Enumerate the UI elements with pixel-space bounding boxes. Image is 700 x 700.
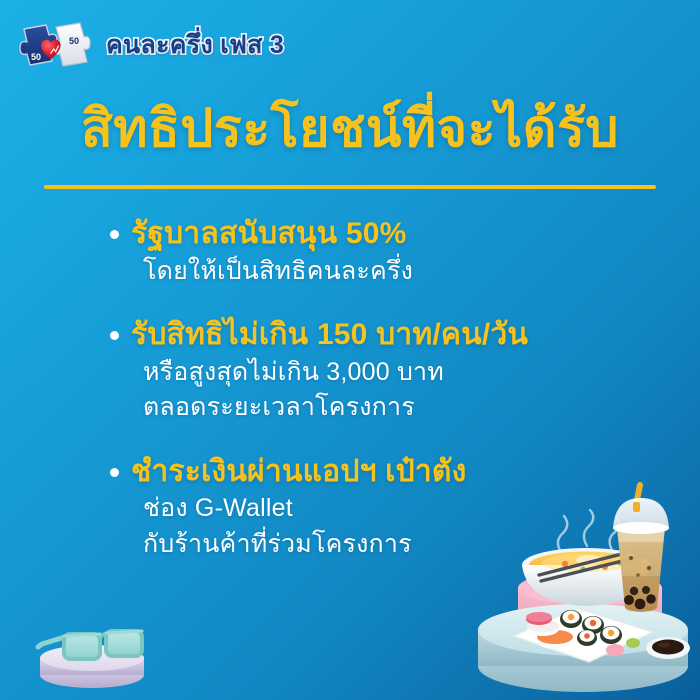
benefit-subline: โดยให้เป็นสิทธิคนละครึ่ง (143, 254, 650, 290)
benefit-sublines: โดยให้เป็นสิทธิคนละครึ่ง (131, 254, 650, 290)
poster-header: 50 50 คนละครึ่ง เฟส 3 (16, 16, 284, 74)
list-item: รับสิทธิไม่เกิน 150 บาท/คน/วัน หรือสูงสุ… (110, 315, 650, 426)
infographic-poster: 50 50 คนละครึ่ง เฟส 3 สิทธิประโยชน์ที่จะ… (0, 0, 700, 700)
food-illustration (465, 480, 700, 700)
benefit-sublines: หรือสูงสุดไม่เกิน 3,000 บาท ตลอดระยะเวลา… (131, 355, 650, 426)
bullet-dot-icon (110, 468, 119, 477)
brand-title: คนละครึ่ง เฟส 3 (106, 25, 284, 65)
svg-text:50: 50 (31, 52, 41, 62)
svg-text:50: 50 (69, 36, 79, 46)
bullet-dot-icon (110, 331, 119, 340)
benefit-headline: ชำระเงินผ่านแอปฯ เป๋าตัง (131, 452, 466, 492)
soy-sauce-dish (646, 637, 690, 659)
program-logo: 50 50 (16, 17, 96, 73)
title-divider (44, 185, 656, 189)
steam (558, 510, 619, 552)
sashimi-tuna (526, 612, 552, 625)
page-title: สิทธิประโยชน์ที่จะได้รับ (0, 100, 700, 160)
list-item: รัฐบาลสนับสนุน 50% โดยให้เป็นสิทธิคนละคร… (110, 214, 650, 289)
sunglasses-illustration (12, 600, 172, 692)
bullet-dot-icon (110, 230, 119, 239)
benefit-subline: ตลอดระยะเวลาโครงการ (143, 390, 650, 426)
benefit-headline: รับสิทธิไม่เกิน 150 บาท/คน/วัน (131, 315, 528, 355)
benefit-headline: รัฐบาลสนับสนุน 50% (131, 214, 407, 254)
wasabi (626, 638, 640, 648)
pickled-ginger (606, 644, 624, 656)
benefit-subline: หรือสูงสุดไม่เกิน 3,000 บาท (143, 355, 650, 391)
